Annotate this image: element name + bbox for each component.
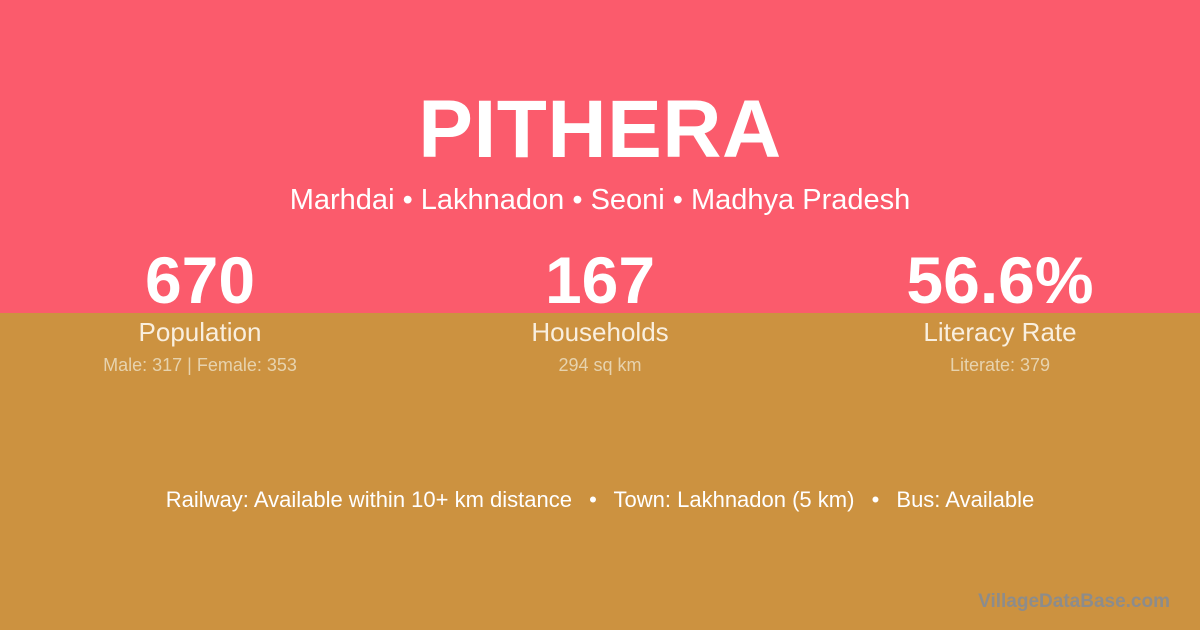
stat-subtext: Literate: 379 xyxy=(800,354,1200,376)
amenity-railway: Railway: Available within 10+ km distanc… xyxy=(166,487,572,512)
stat-subtext: Male: 317 | Female: 353 xyxy=(0,354,400,376)
amenity-bus: Bus: Available xyxy=(896,487,1034,512)
card-content: PITHERA Marhdai • Lakhnadon • Seoni • Ma… xyxy=(0,0,1200,630)
stat-literacy-rate: 56.6% Literacy Rate Literate: 379 xyxy=(800,246,1200,376)
breadcrumb: Marhdai • Lakhnadon • Seoni • Madhya Pra… xyxy=(0,181,1200,219)
stat-value: 167 xyxy=(400,246,800,314)
village-title: PITHERA xyxy=(0,84,1200,176)
stat-subtext: 294 sq km xyxy=(400,354,800,376)
amenity-separator: • xyxy=(861,485,891,515)
stat-households: 167 Households 294 sq km xyxy=(400,246,800,376)
stat-label: Households xyxy=(400,316,800,348)
amenity-separator: • xyxy=(578,485,608,515)
stat-label: Literacy Rate xyxy=(800,316,1200,348)
amenity-town: Town: Lakhnadon (5 km) xyxy=(614,487,855,512)
stats-row: 670 Population Male: 317 | Female: 353 1… xyxy=(0,246,1200,376)
amenities-row: Railway: Available within 10+ km distanc… xyxy=(0,485,1200,515)
stat-label: Population xyxy=(0,316,400,348)
stat-population: 670 Population Male: 317 | Female: 353 xyxy=(0,246,400,376)
site-brand: VillageDataBase.com xyxy=(978,590,1170,614)
stat-value: 670 xyxy=(0,246,400,314)
village-info-card: PITHERA Marhdai • Lakhnadon • Seoni • Ma… xyxy=(0,0,1200,630)
stat-value: 56.6% xyxy=(800,246,1200,314)
